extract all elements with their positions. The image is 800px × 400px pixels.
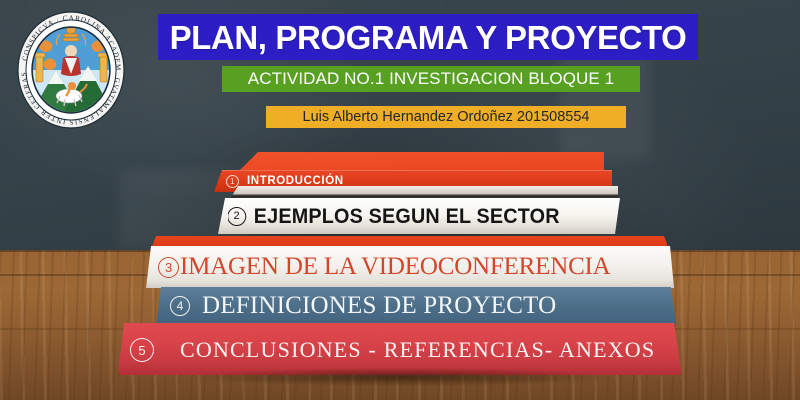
stack-drop-shadow [104,364,696,390]
book-4-number: 4 [170,296,190,316]
slide-canvas: CONSPICVA · CAROLINA ACADEM GVATIMALENSI… [0,0,800,400]
book-2-number: 2 [228,207,246,226]
book-2-label-row[interactable]: 2 EJEMPLOS SEGUN EL SECTOR [228,202,579,230]
book-1-label: INTRODUCCIÓN [247,175,344,187]
book-3-number: 3 [158,257,179,278]
book-4-label: DEFINICIONES DE PROYECTO [202,292,556,320]
book-2-label: EJEMPLOS SEGUN EL SECTOR [254,204,560,229]
book-5-label-row[interactable]: 5 CONCLUSIONES - REFERENCIAS- ANEXOS [130,332,678,368]
book-stack: 1 INTRODUCCIÓN 2 EJEMPLOS SEGUN EL SECTO… [0,0,800,400]
book-5-number: 5 [130,338,154,362]
book-4-label-row[interactable]: 4 DEFINICIONES DE PROYECTO [170,290,670,322]
book-3-label-row[interactable]: 3 IMAGEN DE LA VIDEOCONFERENCIA [158,250,670,284]
book-5-label: CONCLUSIONES - REFERENCIAS- ANEXOS [180,337,655,363]
book-3-label: IMAGEN DE LA VIDEOCONFERENCIA [180,253,611,281]
book-1-number: 1 [226,175,239,188]
